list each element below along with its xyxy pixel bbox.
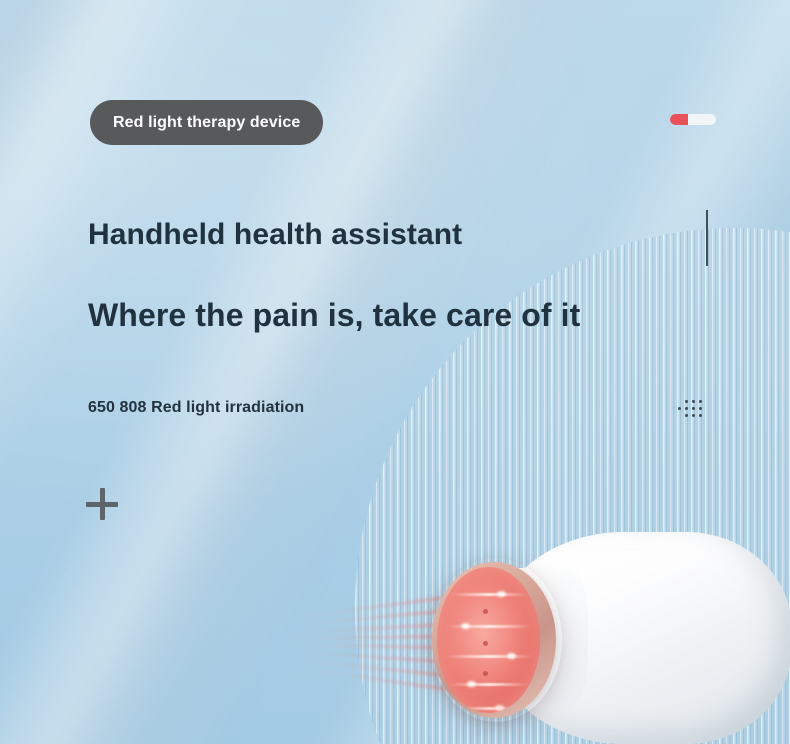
dot-grid-cell [685,400,688,403]
led-streak [451,593,527,596]
product-image [280,528,790,744]
led-dot [483,671,488,676]
dot-grid-cell [692,400,695,403]
led-glow-spot [495,705,504,711]
product-category-badge[interactable]: Red light therapy device [90,100,323,145]
dot-grid-cell [699,407,702,410]
plus-icon-vertical-bar [100,488,105,520]
dot-grid-cell [678,414,681,417]
led-streak [449,683,529,686]
led-dot [483,609,488,614]
progress-pill-fill [670,114,688,125]
dot-grid-icon [676,398,704,419]
dot-grid-cell [699,400,702,403]
led-glow-spot [507,653,516,659]
led-dot [483,641,488,646]
dot-grid-cell [678,407,681,410]
led-streak [457,707,523,710]
dot-grid-cell [699,414,702,417]
progress-pill-indicator[interactable] [670,114,716,125]
led-streak [445,655,533,658]
dot-grid-cell [678,400,681,403]
led-glow-spot [467,681,476,687]
led-glow-spot [461,623,470,629]
plus-icon [86,488,118,520]
dot-grid-cell [685,414,688,417]
dot-grid-cell [692,414,695,417]
device-led-panel [437,567,540,713]
dot-grid-cell [685,407,688,410]
headline-primary: Handheld health assistant [88,218,462,252]
device-head-rim [432,562,556,718]
promo-banner: Red light therapy device Handheld health… [0,0,790,744]
subtitle-wavelength: 650 808 Red light irradiation [88,399,304,417]
headline-secondary: Where the pain is, take care of it [88,297,580,334]
vertical-rule-decoration [706,210,708,266]
led-streak [447,625,531,628]
led-glow-spot [497,591,506,597]
dot-grid-cell [692,407,695,410]
